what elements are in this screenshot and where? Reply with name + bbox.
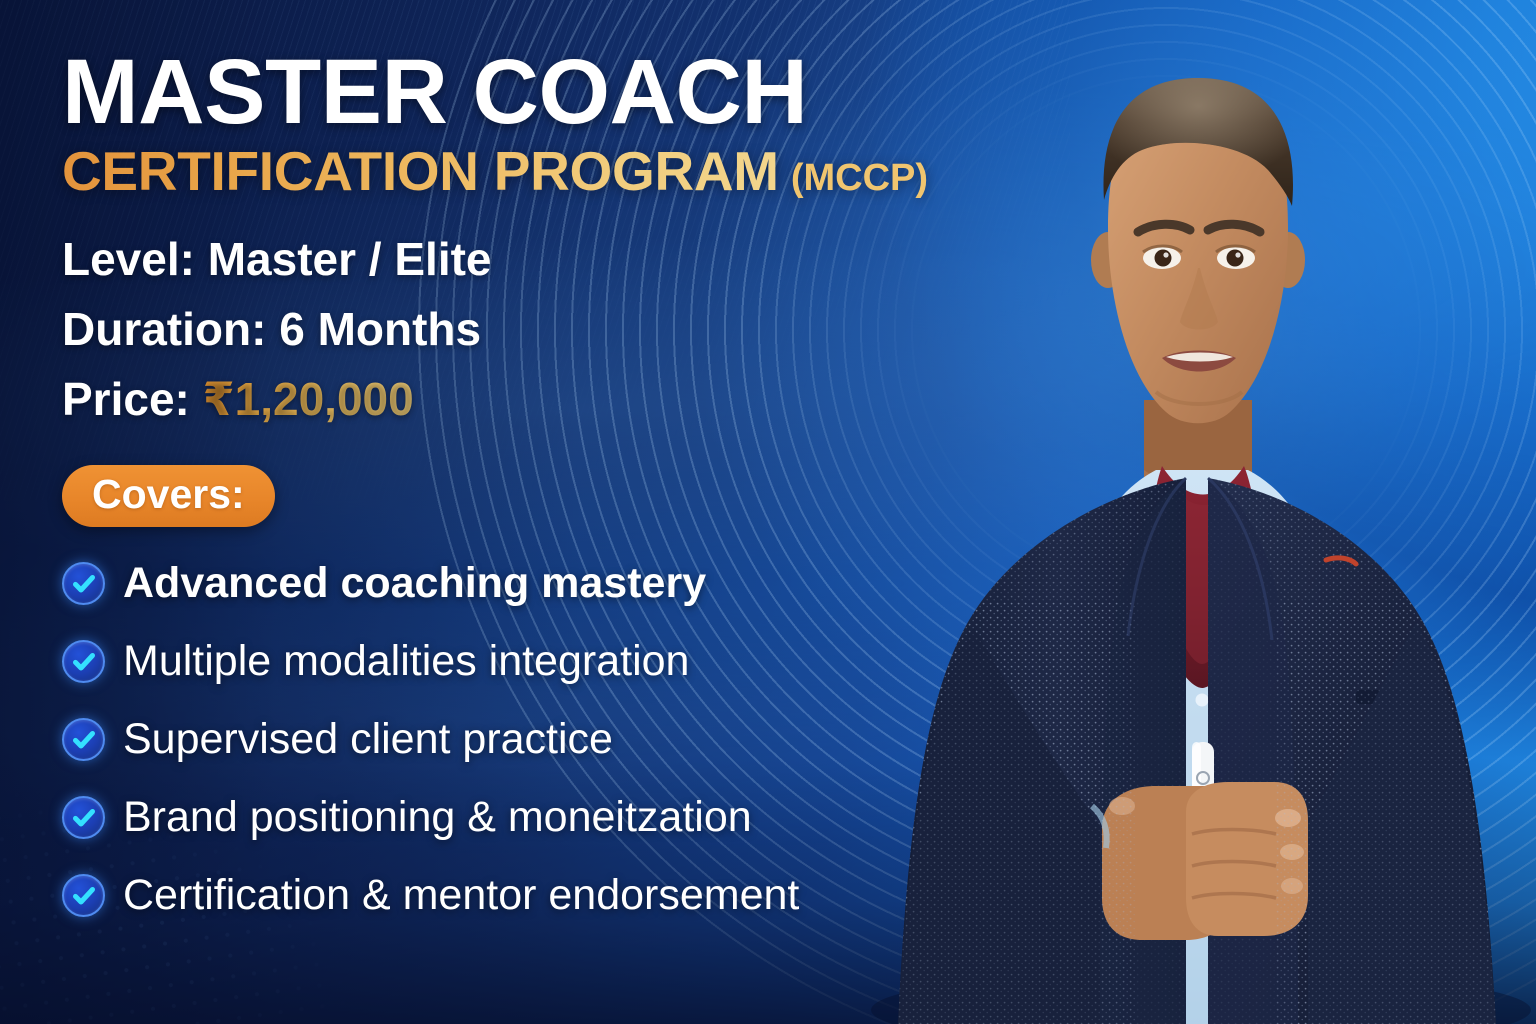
list-item: Certification & mentor endorsement — [62, 857, 942, 935]
check-circle-icon — [62, 874, 105, 917]
list-item-label: Multiple modalities integration — [123, 638, 689, 685]
covers-badge-label: Covers: — [92, 471, 245, 517]
detail-level-label: Level: — [62, 233, 195, 285]
check-circle-icon — [62, 718, 105, 761]
detail-duration: Duration: 6 Months — [62, 295, 942, 365]
poster-content: MASTER COACH CERTIFICATION PROGRAM (MCCP… — [62, 46, 942, 935]
promo-poster: MASTER COACH CERTIFICATION PROGRAM (MCCP… — [0, 0, 1536, 1024]
detail-price-value: ₹1,20,000 — [203, 373, 414, 425]
detail-duration-label: Duration: — [62, 303, 266, 355]
detail-level-value: Master / Elite — [208, 233, 492, 285]
check-circle-icon — [62, 562, 105, 605]
list-item: Supervised client practice — [62, 701, 942, 779]
covers-badge: Covers: — [62, 465, 275, 527]
detail-level: Level: Master / Elite — [62, 225, 942, 295]
list-item-label: Brand positioning & moneitzation — [123, 794, 752, 841]
check-circle-icon — [62, 640, 105, 683]
check-circle-icon — [62, 796, 105, 839]
subtitle: CERTIFICATION PROGRAM (MCCP) — [62, 144, 942, 199]
list-item-label: Supervised client practice — [123, 716, 613, 763]
covers-list: Advanced coaching masteryMultiple modali… — [62, 545, 942, 935]
detail-price-label: Price: — [62, 373, 190, 425]
program-details: Level: Master / Elite Duration: 6 Months… — [62, 225, 942, 435]
subtitle-abbreviation: (MCCP) — [791, 159, 928, 197]
detail-price: Price: ₹1,20,000 — [62, 365, 942, 435]
list-item: Advanced coaching mastery — [62, 545, 942, 623]
list-item: Multiple modalities integration — [62, 623, 942, 701]
list-item-label: Certification & mentor endorsement — [123, 872, 799, 919]
page-title: MASTER COACH — [62, 46, 942, 138]
list-item-label: Advanced coaching mastery — [123, 560, 706, 607]
list-item: Brand positioning & moneitzation — [62, 779, 942, 857]
detail-duration-value: 6 Months — [279, 303, 481, 355]
subtitle-text: CERTIFICATION PROGRAM — [62, 144, 779, 199]
